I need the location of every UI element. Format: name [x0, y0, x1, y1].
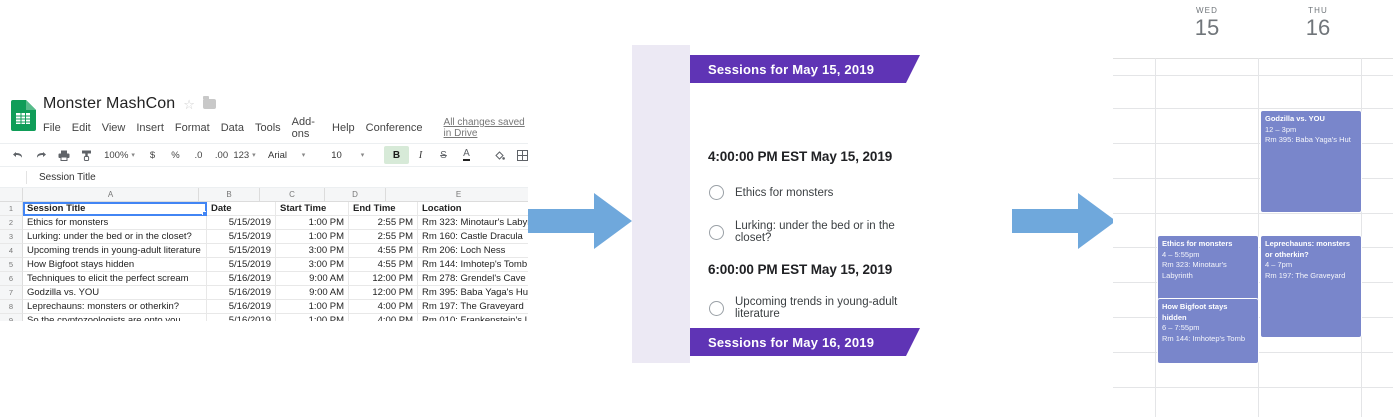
calendar-event[interactable]: Godzilla vs. YOU 12 – 3pm Rm 395: Baba Y…: [1260, 110, 1362, 213]
calendar-event[interactable]: Ethics for monsters 4 – 5:55pm Rm 323: M…: [1157, 235, 1259, 301]
event-title: Ethics for monsters: [1162, 239, 1254, 250]
cell-d2[interactable]: 2:55 PM: [349, 216, 418, 230]
table-row: 6 Techniques to elicit the perfect screa…: [0, 272, 528, 286]
event-time: 4 – 7pm: [1265, 260, 1292, 269]
column-header-c[interactable]: C: [260, 188, 325, 202]
cell-d8[interactable]: 4:00 PM: [349, 300, 418, 314]
cell-b7[interactable]: 5/16/2019: [207, 286, 276, 300]
form-option-label: Ethics for monsters: [735, 187, 833, 199]
column-header-e[interactable]: E: [386, 188, 528, 202]
day-banner-may-15: Sessions for May 15, 2019: [690, 55, 920, 83]
cell-e7[interactable]: Rm 395: Baba Yaga's Hut: [418, 286, 528, 300]
cell-d3[interactable]: 2:55 PM: [349, 230, 418, 244]
row-number[interactable]: 1: [0, 202, 23, 216]
column-header-b[interactable]: B: [199, 188, 260, 202]
cell-b4[interactable]: 5/15/2019: [207, 244, 276, 258]
zoom-selector[interactable]: 100%▾: [108, 146, 131, 164]
form-option-label: Lurking: under the bed or in the closet?: [735, 220, 914, 244]
cell-d1[interactable]: End Time: [349, 202, 418, 216]
undo-icon[interactable]: [6, 146, 29, 164]
page-title[interactable]: Monster MashCon: [43, 95, 175, 113]
italic-button[interactable]: I: [409, 146, 432, 164]
calendar-event[interactable]: Leprechauns: monsters or otherkin? 4 – 7…: [1260, 235, 1362, 338]
row-number[interactable]: 5: [0, 258, 23, 272]
cell-b2[interactable]: 5/15/2019: [207, 216, 276, 230]
event-location: Rm 144: Imhotep's Tomb: [1162, 334, 1245, 343]
row-number[interactable]: 8: [0, 300, 23, 314]
cell-a4[interactable]: Upcoming trends in young-adult literatur…: [23, 244, 207, 258]
session-time-heading-1: 4:00:00 PM EST May 15, 2019: [708, 149, 892, 164]
increase-decimal-button[interactable]: .00: [210, 146, 233, 164]
cell-d4[interactable]: 4:55 PM: [349, 244, 418, 258]
day-of-week-label: THU: [1271, 6, 1365, 15]
cell-a5[interactable]: How Bigfoot stays hidden: [23, 258, 207, 272]
menu-item-add-ons[interactable]: Add-ons: [292, 116, 321, 140]
calendar-day-header-wed[interactable]: WED 15: [1160, 6, 1254, 39]
chevron-down-icon[interactable]: ▾: [292, 146, 315, 164]
chevron-down-icon: ▾: [131, 151, 135, 159]
calendar-event[interactable]: How Bigfoot stays hidden 6 – 7:55pm Rm 1…: [1157, 298, 1259, 364]
cell-c2[interactable]: 1:00 PM: [276, 216, 349, 230]
corner-cell[interactable]: [0, 188, 23, 202]
cell-e1[interactable]: Location: [418, 202, 528, 216]
cell-b1[interactable]: Date: [207, 202, 276, 216]
chevron-down-icon: ▾: [252, 151, 256, 159]
menu-item-data[interactable]: Data: [221, 122, 244, 134]
sheets-header: Monster MashCon ☆ File Edit View Insert …: [0, 95, 528, 143]
cell-e8[interactable]: Rm 197: The Graveyard: [418, 300, 528, 314]
cell-d9[interactable]: 4:00 PM: [349, 314, 418, 321]
right-arrow-icon: [1012, 193, 1116, 254]
chevron-down-icon[interactable]: ▾: [351, 146, 374, 164]
cell-b8[interactable]: 5/16/2019: [207, 300, 276, 314]
cell-d7[interactable]: 12:00 PM: [349, 286, 418, 300]
row-number[interactable]: 2: [0, 216, 23, 230]
row-number[interactable]: 4: [0, 244, 23, 258]
strikethrough-button[interactable]: S: [432, 146, 455, 164]
cell-c5[interactable]: 3:00 PM: [276, 258, 349, 272]
formula-input[interactable]: Session Title: [27, 172, 96, 183]
cell-b3[interactable]: 5/15/2019: [207, 230, 276, 244]
radio-button-icon[interactable]: [709, 225, 724, 240]
cell-c1[interactable]: Start Time: [276, 202, 349, 216]
text-color-button[interactable]: A: [455, 146, 478, 164]
cell-a2[interactable]: Ethics for monsters: [23, 216, 207, 230]
cell-b6[interactable]: 5/16/2019: [207, 272, 276, 286]
redo-icon[interactable]: [29, 146, 52, 164]
form-option-label: Upcoming trends in young-adult literatur…: [735, 296, 914, 320]
day-number: 16: [1271, 17, 1365, 39]
google-sheets-icon: [10, 100, 36, 131]
star-icon[interactable]: ☆: [183, 98, 195, 111]
number-format-button[interactable]: 123▾: [233, 146, 256, 164]
cell-a3[interactable]: Lurking: under the bed or in the closet?: [23, 230, 207, 244]
table-row: 7 Godzilla vs. YOU 5/16/2019 9:00 AM 12:…: [0, 286, 528, 300]
menu-item-help[interactable]: Help: [332, 122, 355, 134]
font-size-selector[interactable]: 10: [325, 146, 348, 164]
menu-item-view[interactable]: View: [102, 122, 126, 134]
cell-a6[interactable]: Techniques to elicit the perfect scream: [23, 272, 207, 286]
menu-item-conference[interactable]: Conference: [366, 122, 423, 134]
folder-icon[interactable]: [203, 99, 216, 109]
event-title: How Bigfoot stays hidden: [1162, 302, 1254, 323]
form-option[interactable]: Ethics for monsters: [709, 185, 833, 200]
cell-a9[interactable]: So the cryptozoologists are onto you...: [23, 314, 207, 321]
cell-c7[interactable]: 9:00 AM: [276, 286, 349, 300]
table-row: 2 Ethics for monsters 5/15/2019 1:00 PM …: [0, 216, 528, 230]
cell-b5[interactable]: 5/15/2019: [207, 258, 276, 272]
cell-c6[interactable]: 9:00 AM: [276, 272, 349, 286]
radio-button-icon[interactable]: [709, 301, 724, 316]
decrease-decimal-button[interactable]: .0: [187, 146, 210, 164]
column-header-a[interactable]: A: [23, 188, 199, 202]
session-time-heading-2: 6:00:00 PM EST May 15, 2019: [708, 262, 892, 277]
event-title: Leprechauns: monsters or otherkin?: [1265, 239, 1357, 260]
cell-c8[interactable]: 1:00 PM: [276, 300, 349, 314]
google-sheets-panel: Monster MashCon ☆ File Edit View Insert …: [0, 95, 528, 321]
cell-e6[interactable]: Rm 278: Grendel's Cave: [418, 272, 528, 286]
cell-a8[interactable]: Leprechauns: monsters or otherkin?: [23, 300, 207, 314]
form-option[interactable]: Upcoming trends in young-adult literatur…: [709, 296, 914, 320]
column-header-d[interactable]: D: [325, 188, 386, 202]
calendar-day-header-thu[interactable]: THU 16: [1271, 6, 1365, 39]
bold-button[interactable]: B: [384, 146, 409, 164]
row-number[interactable]: 3: [0, 230, 23, 244]
google-calendar-panel: WED 15 THU 16 Godzilla vs. YOU: [1113, 0, 1393, 417]
cell-a1[interactable]: Session Title: [23, 202, 207, 216]
row-number[interactable]: 9: [0, 314, 23, 321]
percent-button[interactable]: %: [164, 146, 187, 164]
workflow-diagram: Monster MashCon ☆ File Edit View Insert …: [0, 0, 1393, 417]
table-row: 8 Leprechauns: monsters or otherkin? 5/1…: [0, 300, 528, 314]
table-row: 5 How Bigfoot stays hidden 5/15/2019 3:0…: [0, 258, 528, 272]
document-title-row: Monster MashCon ☆: [43, 95, 216, 113]
table-row: 4 Upcoming trends in young-adult literat…: [0, 244, 528, 258]
currency-button[interactable]: $: [141, 146, 164, 164]
radio-button-icon[interactable]: [709, 185, 724, 200]
cell-a7[interactable]: Godzilla vs. YOU: [23, 286, 207, 300]
column-header-row: A B C D E: [0, 188, 528, 202]
day-of-week-label: WED: [1160, 6, 1254, 15]
cell-c4[interactable]: 3:00 PM: [276, 244, 349, 258]
table-row: 3 Lurking: under the bed or in the close…: [0, 230, 528, 244]
row-number[interactable]: 7: [0, 286, 23, 300]
right-arrow-icon: [528, 193, 632, 254]
event-time: 4 – 5:55pm: [1162, 250, 1200, 259]
save-status-link[interactable]: All changes saved in Drive: [444, 117, 528, 139]
cell-d6[interactable]: 12:00 PM: [349, 272, 418, 286]
form-option[interactable]: Lurking: under the bed or in the closet?: [709, 220, 914, 244]
table-row: 1 Session Title Date Start Time End Time…: [0, 202, 528, 216]
event-time: 12 – 3pm: [1265, 125, 1296, 134]
row-number[interactable]: 6: [0, 272, 23, 286]
cell-e2[interactable]: Rm 323: Minotaur's Labyrinth: [418, 216, 528, 230]
font-family-selector[interactable]: Arial: [266, 146, 289, 164]
cell-d5[interactable]: 4:55 PM: [349, 258, 418, 272]
cell-b9[interactable]: 5/16/2019: [207, 314, 276, 321]
menu-item-insert[interactable]: Insert: [136, 122, 164, 134]
menu-bar: File Edit View Insert Format Data Tools …: [43, 116, 528, 140]
form-side-strip: [632, 45, 690, 363]
cell-e4[interactable]: Rm 206: Loch Ness: [418, 244, 528, 258]
day-banner-may-16: Sessions for May 16, 2019: [690, 328, 920, 356]
day-number: 15: [1160, 17, 1254, 39]
spreadsheet-grid: A B C D E 1 Session Title Date Start Tim…: [0, 188, 528, 321]
menu-item-edit[interactable]: Edit: [72, 122, 91, 134]
menu-item-format[interactable]: Format: [175, 122, 210, 134]
event-location: Rm 197: The Graveyard: [1265, 271, 1345, 280]
calendar-header: WED 15 THU 16: [1113, 0, 1393, 59]
cell-e5[interactable]: Rm 144: Imhotep's Tomb: [418, 258, 528, 272]
event-location: Rm 395: Baba Yaga's Hut: [1265, 135, 1351, 144]
paint-format-icon[interactable]: [75, 146, 98, 164]
print-icon[interactable]: [52, 146, 75, 164]
sheets-toolbar: 100%▾ $ % .0 .00 123▾ Arial ▾ 10 ▾ B I S…: [0, 143, 528, 167]
event-title: Godzilla vs. YOU: [1265, 114, 1357, 125]
calendar-time-grid[interactable]: Godzilla vs. YOU 12 – 3pm Rm 395: Baba Y…: [1113, 58, 1393, 417]
google-form-panel: Sessions for May 15, 2019 4:00:00 PM EST…: [632, 45, 914, 363]
cell-e3[interactable]: Rm 160: Castle Dracula: [418, 230, 528, 244]
cell-c9[interactable]: 1:00 PM: [276, 314, 349, 321]
event-time: 6 – 7:55pm: [1162, 323, 1200, 332]
grid-line: [1155, 58, 1156, 417]
event-location: Rm 323: Minotaur's Labyrinth: [1162, 260, 1227, 280]
fill-color-icon[interactable]: [488, 146, 511, 164]
menu-item-tools[interactable]: Tools: [255, 122, 281, 134]
borders-icon[interactable]: [511, 146, 528, 164]
formula-bar: fx-icon Session Title: [0, 167, 528, 188]
menu-item-file[interactable]: File: [43, 122, 61, 134]
cell-e9[interactable]: Rm 010: Frankenstein's Laboratory: [418, 314, 528, 321]
cell-c3[interactable]: 1:00 PM: [276, 230, 349, 244]
table-row: 9 So the cryptozoologists are onto you..…: [0, 314, 528, 321]
